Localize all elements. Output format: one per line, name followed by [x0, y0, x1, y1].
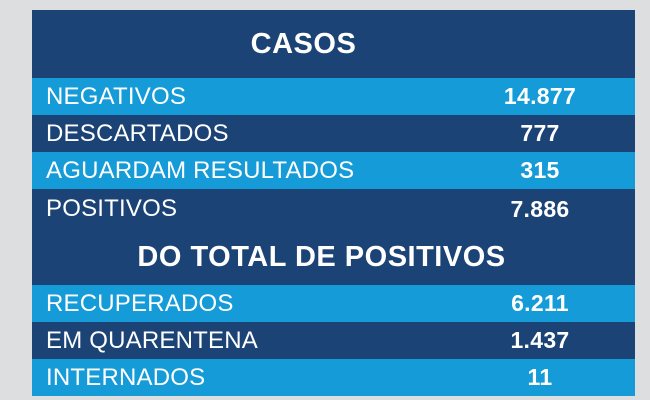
table-row-internados: INTERNADOS 11	[32, 359, 635, 396]
table-row-negativos: NEGATIVOS 14.877	[32, 78, 635, 115]
page-title: CASOS	[32, 28, 635, 61]
positivos-block: POSITIVOS 7.886 DO TOTAL DE POSITIVOS	[32, 189, 635, 285]
row-label-em-quarentena: EM QUARENTENA	[32, 327, 258, 355]
row-label-aguardam-resultados: AGUARDAM RESULTADOS	[32, 157, 354, 185]
row-value-internados: 11	[432, 364, 635, 391]
table-row-em-quarentena: EM QUARENTENA 1.437	[32, 322, 635, 359]
section-title-do-total-de-positivos: DO TOTAL DE POSITIVOS	[32, 241, 635, 274]
table-row-descartados: DESCARTADOS 777	[32, 115, 635, 152]
row-label-negativos: NEGATIVOS	[32, 83, 186, 111]
row-value-descartados: 777	[432, 120, 635, 147]
row-value-aguardam-resultados: 315	[432, 157, 635, 184]
casos-title-band: CASOS	[32, 10, 635, 78]
row-label-recuperados: RECUPERADOS	[32, 290, 234, 318]
row-label-internados: INTERNADOS	[32, 364, 205, 392]
row-value-negativos: 14.877	[432, 83, 635, 110]
statistics-board: CASOS NEGATIVOS 14.877 DESCARTADOS 777 A…	[32, 10, 635, 400]
row-label-positivos: POSITIVOS	[32, 195, 177, 223]
table-row-aguardam-resultados: AGUARDAM RESULTADOS 315	[32, 152, 635, 189]
row-value-em-quarentena: 1.437	[432, 327, 635, 354]
row-value-positivos: 7.886	[432, 196, 635, 223]
do-total-de-positivos-title-band: DO TOTAL DE POSITIVOS	[32, 229, 635, 285]
row-label-descartados: DESCARTADOS	[32, 120, 229, 148]
row-value-recuperados: 6.211	[432, 290, 635, 317]
table-row-positivos: POSITIVOS 7.886	[32, 189, 635, 229]
table-row-recuperados: RECUPERADOS 6.211	[32, 285, 635, 322]
